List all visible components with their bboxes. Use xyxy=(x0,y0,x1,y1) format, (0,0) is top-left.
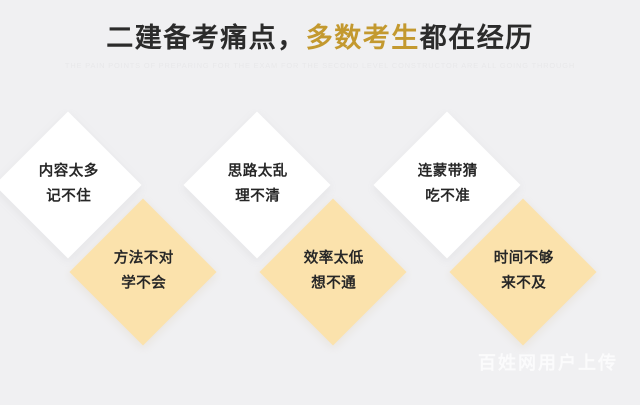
pain-point-label-guessing-answers: 连蒙带猜吃不准 xyxy=(373,159,523,209)
pain-point-line2: 想不通 xyxy=(259,271,409,296)
pain-point-line1: 内容太多 xyxy=(39,163,99,179)
pain-point-label-thinking-too-messy: 思路太乱理不清 xyxy=(183,159,333,209)
pain-point-label-low-efficiency: 效率太低想不通 xyxy=(259,246,409,296)
pain-point-label-content-too-much: 内容太多记不住 xyxy=(0,159,144,209)
pain-point-line1: 方法不对 xyxy=(114,250,174,266)
pain-point-line2: 吃不准 xyxy=(373,184,523,209)
pain-points-poster: 二建备考痛点，多数考生都在经历 THE PAIN POINTS OF PREPA… xyxy=(0,0,640,405)
pain-point-label-not-enough-time: 时间不够来不及 xyxy=(449,246,599,296)
pain-point-line2: 学不会 xyxy=(69,271,219,296)
watermark: 百姓网用户上传 xyxy=(478,349,618,375)
pain-point-line1: 连蒙带猜 xyxy=(418,163,478,179)
pain-point-line1: 思路太乱 xyxy=(228,163,288,179)
pain-point-line1: 效率太低 xyxy=(304,250,364,266)
pain-point-line1: 时间不够 xyxy=(494,250,554,266)
pain-point-label-wrong-method: 方法不对学不会 xyxy=(69,246,219,296)
pain-point-line2: 理不清 xyxy=(183,184,333,209)
pain-point-line2: 来不及 xyxy=(449,271,599,296)
pain-point-diamond-grid: 内容太多记不住思路太乱理不清连蒙带猜吃不准方法不对学不会效率太低想不通时间不够来… xyxy=(0,0,640,405)
pain-point-line2: 记不住 xyxy=(0,184,144,209)
